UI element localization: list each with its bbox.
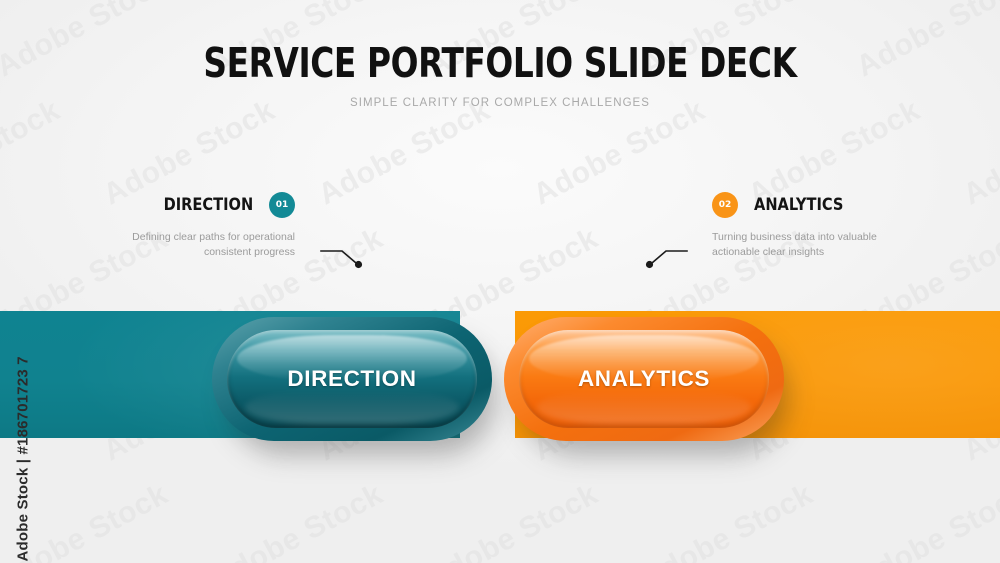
page-title: SERVICE PORTFOLIO SLIDE DECK [100, 42, 900, 85]
info-description-direction: Defining clear paths for operational con… [95, 230, 295, 260]
info-title-direction: DIRECTION [163, 197, 253, 214]
info-heading-analytics: 02 ANALYTICS [712, 192, 912, 218]
watermark-text: Adobe Stock [0, 478, 173, 563]
capsule-button-analytics[interactable]: ANALYTICS [504, 317, 784, 441]
watermark-text: Adobe Stock [528, 94, 711, 213]
watermark-text: Adobe Stock [0, 94, 66, 213]
watermark-text: Adobe Stock [958, 94, 1000, 213]
watermark-text: Adobe Stock [313, 94, 496, 213]
capsule-label-analytics: ANALYTICS [504, 317, 784, 441]
connector-line-left [320, 242, 366, 270]
step-badge-01: 01 [269, 192, 295, 218]
capsule-button-direction[interactable]: DIRECTION [212, 317, 492, 441]
step-badge-02: 02 [712, 192, 738, 218]
info-block-analytics: 02 ANALYTICS Turning business data into … [712, 192, 912, 260]
info-heading-direction: DIRECTION 01 [95, 192, 295, 218]
capsule-label-direction: DIRECTION [212, 317, 492, 441]
watermark-text: Adobe Stock [851, 478, 1000, 563]
watermark-text: Adobe Stock [636, 478, 819, 563]
page-subtitle: SIMPLE CLARITY FOR COMPLEX CHALLENGES [0, 97, 1000, 109]
slide-canvas: Adobe StockAdobe StockAdobe StockAdobe S… [0, 0, 1000, 563]
info-description-analytics: Turning business data into valuable acti… [712, 230, 912, 260]
header: SERVICE PORTFOLIO SLIDE DECK SIMPLE CLAR… [0, 42, 1000, 109]
info-title-analytics: ANALYTICS [754, 197, 843, 214]
watermark-text: Adobe Stock [421, 478, 604, 563]
watermark-text: Adobe Stock [206, 478, 389, 563]
connector-line-right [642, 242, 688, 270]
info-block-direction: DIRECTION 01 Defining clear paths for op… [95, 192, 295, 260]
